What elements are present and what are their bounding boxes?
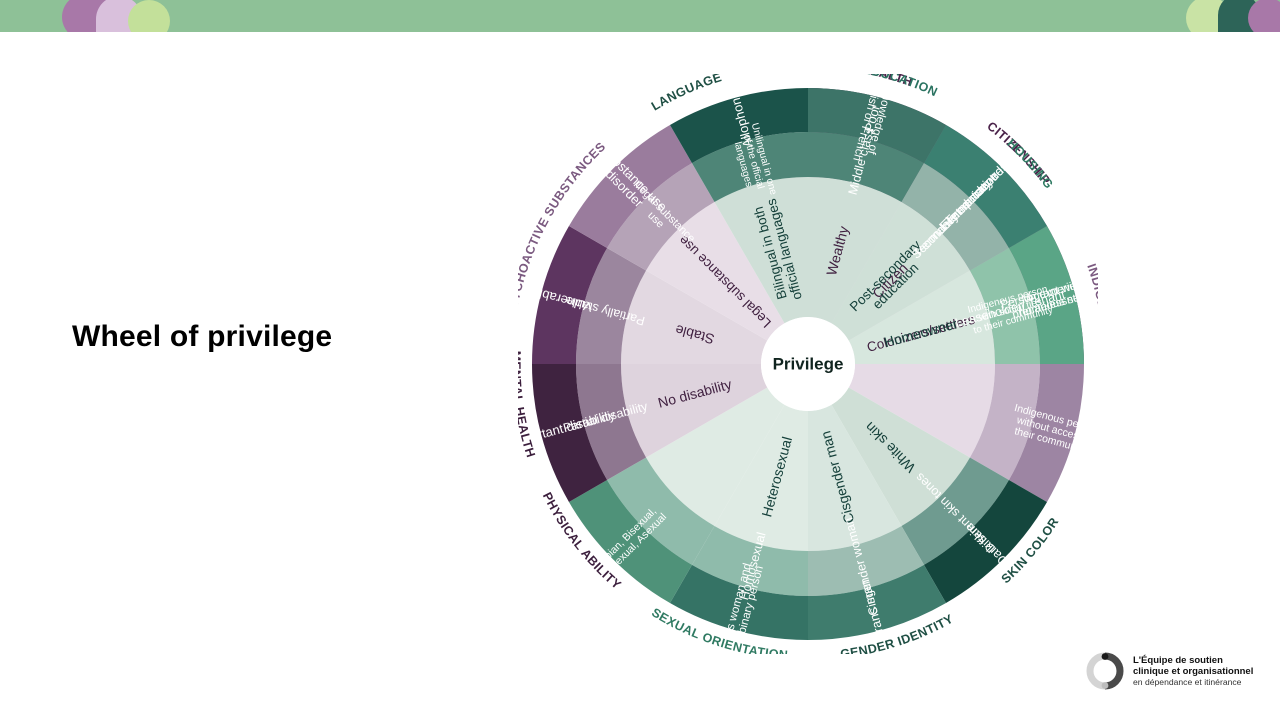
blob-mauve-right — [1248, 0, 1280, 32]
logo-line-2: clinique et organisationnel — [1133, 666, 1253, 677]
wheel-svg: WealthyMiddle classPoorCitizenPermanent … — [518, 74, 1098, 654]
logo-line-3: en dépendance et itinérance — [1133, 677, 1253, 687]
logo-line-1: L'Équipe de soutien — [1133, 655, 1253, 666]
page-title: Wheel of privilege — [72, 320, 332, 354]
circular-logo-mark — [1086, 652, 1124, 690]
blob-lime-left — [128, 0, 170, 32]
top-decorative-band — [0, 0, 1280, 32]
wheel-hub-label: Privilege — [773, 354, 844, 373]
wheel-of-privilege-chart: WealthyMiddle classPoorCitizenPermanent … — [518, 74, 1098, 659]
organization-logo: L'Équipe de soutien clinique et organisa… — [1086, 652, 1253, 690]
